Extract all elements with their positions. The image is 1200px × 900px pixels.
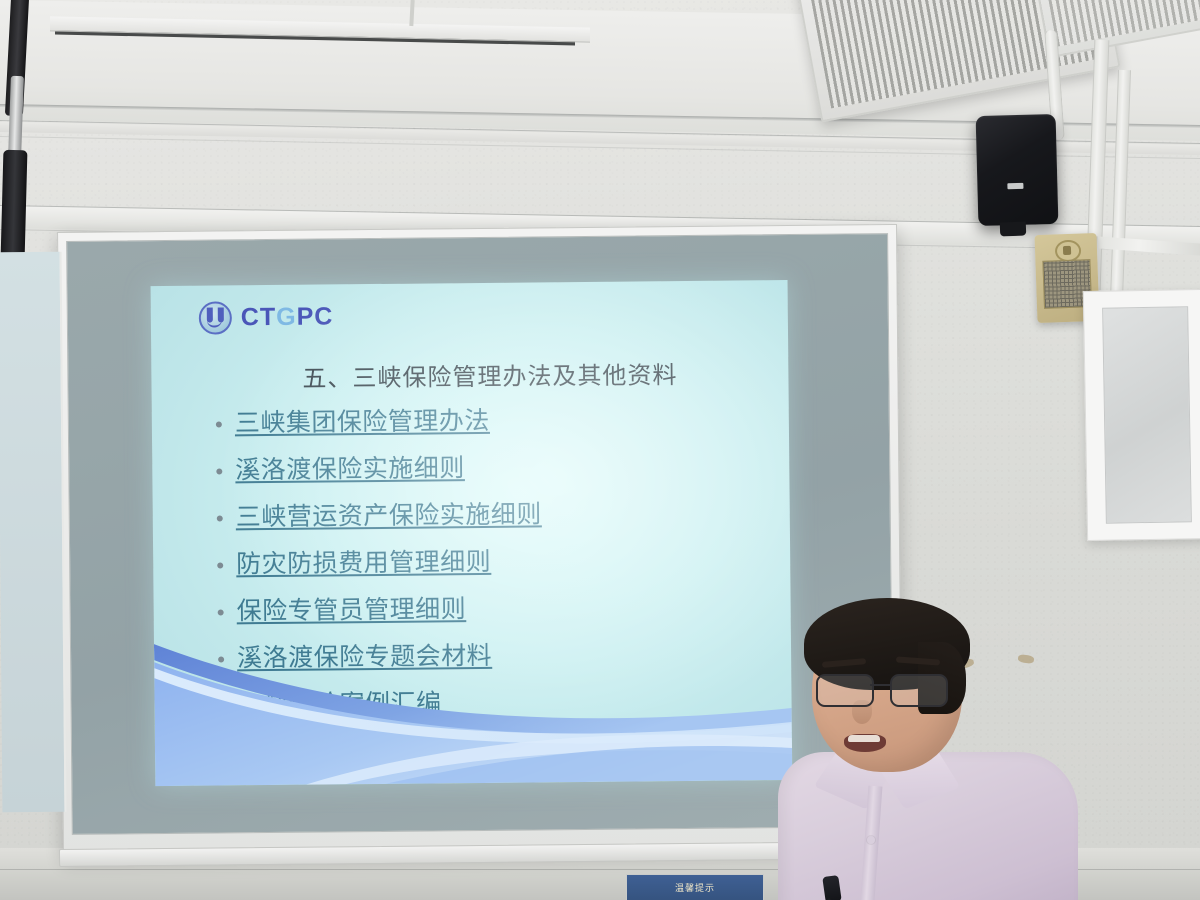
presenter-nose — [852, 700, 872, 724]
bullet-link[interactable]: 保险专管员管理细则 — [236, 589, 466, 627]
speaker-led-icon — [1007, 183, 1023, 189]
presenter-teeth — [848, 735, 880, 742]
speaker-mount-bracket — [1000, 222, 1026, 237]
logo-wordmark: CTGPC — [241, 302, 334, 332]
list-item[interactable]: 三峡集团保险管理办法 — [216, 398, 763, 439]
glasses-bridge — [870, 684, 890, 686]
list-item[interactable]: 防灾防损费用管理细则 — [217, 539, 764, 580]
wall-picture-frame-glass — [1102, 306, 1192, 523]
whiteboard-left-panel — [0, 252, 66, 813]
slide-title: 五、三峡保险管理办法及其他资料 — [151, 354, 788, 395]
slide-wave-decoration — [154, 620, 793, 786]
emblem-arc — [207, 318, 222, 327]
logo-text-part-3: PC — [296, 302, 333, 330]
bullet-link[interactable]: 溪洛渡保险实施细则 — [235, 448, 465, 486]
glasses-lens-right — [890, 674, 948, 707]
ctgpc-emblem-icon — [199, 301, 232, 334]
logo-text-part-2: G — [276, 303, 297, 331]
bullet-link[interactable]: 三峡营运资产保险实施细则 — [236, 494, 542, 533]
list-item[interactable]: 三峡营运资产保险实施细则 — [217, 492, 764, 533]
slide-logo: CTGPC — [199, 300, 334, 334]
bullet-dot-icon — [217, 515, 223, 521]
presenter — [760, 600, 1080, 900]
photo-scene: CTGPC 五、三峡保险管理办法及其他资料 三峡集团保险管理办法 溪洛渡保险实施… — [0, 0, 1200, 900]
black-wall-speaker — [976, 114, 1059, 226]
shirt-button — [867, 836, 875, 844]
bullet-link[interactable]: 防灾防损费用管理细则 — [236, 542, 491, 580]
wall-picture-frame — [1083, 289, 1200, 541]
hanging-pole-bottom — [1, 150, 28, 261]
projected-slide: CTGPC 五、三峡保险管理办法及其他资料 三峡集团保险管理办法 溪洛渡保险实施… — [151, 280, 793, 786]
bullet-dot-icon — [218, 609, 224, 615]
logo-text-part-1: CT — [241, 303, 277, 331]
wall-notice-sign: 温馨提示 — [626, 874, 764, 900]
list-item[interactable]: 溪洛渡保险实施细则 — [216, 445, 763, 486]
bullet-dot-icon — [216, 421, 222, 427]
bullet-link[interactable]: 三峡集团保险管理办法 — [235, 401, 490, 439]
bullet-dot-icon — [216, 468, 222, 474]
wall-notice-sign-text: 温馨提示 — [627, 881, 763, 894]
presenter-glasses — [816, 674, 954, 704]
wave-svg — [154, 620, 793, 786]
bullet-dot-icon — [217, 562, 223, 568]
